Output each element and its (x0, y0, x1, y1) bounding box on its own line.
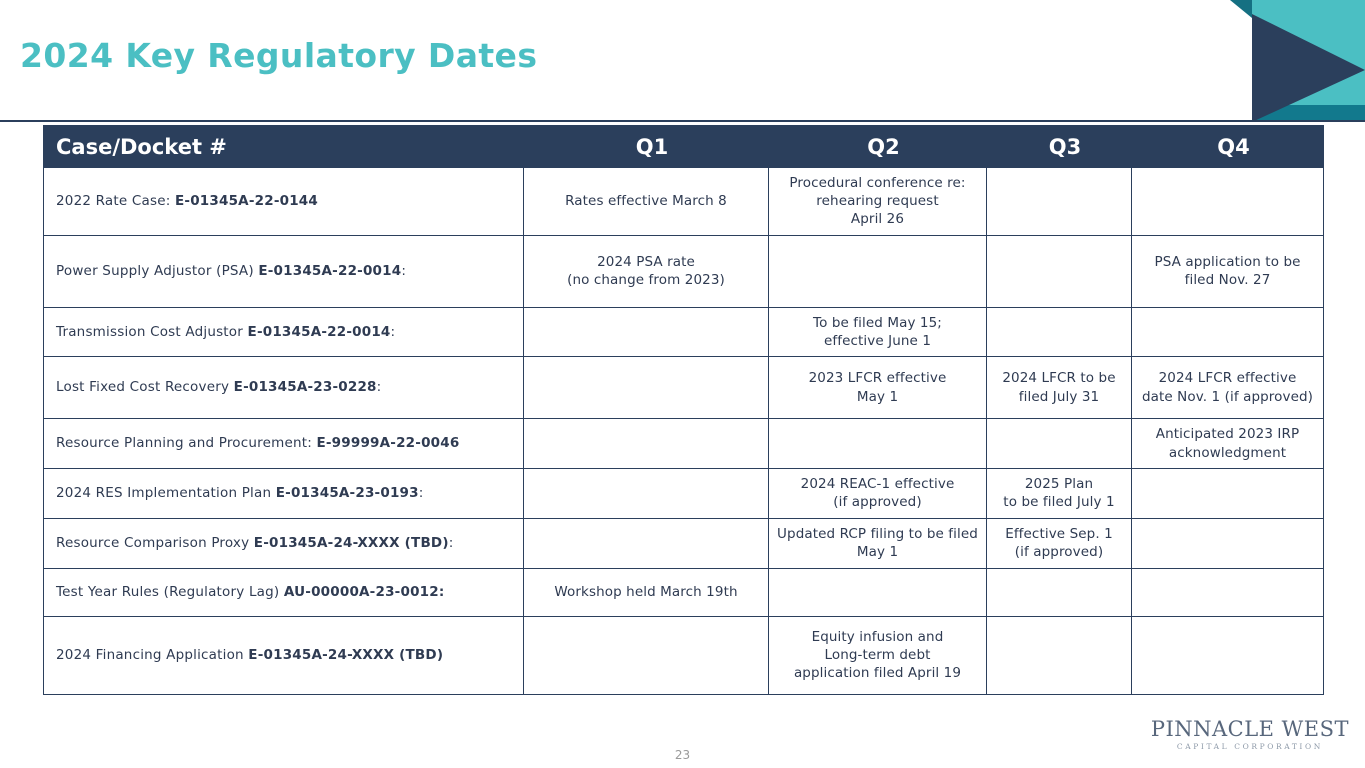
cell-q4: 2024 LFCR effectivedate Nov. 1 (if appro… (1132, 357, 1324, 419)
cell-q1 (524, 419, 769, 469)
case-name: 2024 RES Implementation Plan (56, 485, 276, 501)
cell-q1: 2024 PSA rate(no change from 2023) (524, 235, 769, 307)
logo-wordmark: PINNACLE WEST (1151, 719, 1349, 740)
cell-q4 (1132, 518, 1324, 568)
cell-q1: Workshop held March 19th (524, 568, 769, 616)
cell-q3 (987, 235, 1132, 307)
cell-q3: 2024 LFCR to befiled July 31 (987, 357, 1132, 419)
table-row: Test Year Rules (Regulatory Lag) AU-0000… (44, 568, 1324, 616)
cell-case-docket: 2024 RES Implementation Plan E-01345A-23… (44, 469, 524, 518)
cell-q4 (1132, 568, 1324, 616)
cell-case-docket: Resource Comparison Proxy E-01345A-24-XX… (44, 518, 524, 568)
table-row: 2022 Rate Case: E-01345A-22-0144Rates ef… (44, 168, 1324, 236)
cell-q1 (524, 518, 769, 568)
cell-q2 (769, 235, 987, 307)
slide-header: 2024 Key Regulatory Dates (0, 0, 1232, 122)
case-suffix: : (401, 263, 406, 279)
page-number: 23 (0, 748, 1365, 762)
docket-number: E-01345A-22-0014 (258, 263, 401, 279)
cell-q2: To be filed May 15;effective June 1 (769, 307, 987, 356)
cell-q1 (524, 616, 769, 694)
docket-number: E-01345A-24-XXXX (TBD) (248, 647, 443, 663)
cell-case-docket: Resource Planning and Procurement: E-999… (44, 419, 524, 469)
cell-q4 (1132, 616, 1324, 694)
cell-q4: PSA application to befiled Nov. 27 (1132, 235, 1324, 307)
corner-decoration (1230, 0, 1365, 122)
table-row: Resource Planning and Procurement: E-999… (44, 419, 1324, 469)
cell-q1 (524, 357, 769, 419)
cell-q3: Effective Sep. 1(if approved) (987, 518, 1132, 568)
cell-q2: 2023 LFCR effectiveMay 1 (769, 357, 987, 419)
cell-case-docket: Test Year Rules (Regulatory Lag) AU-0000… (44, 568, 524, 616)
table-row: 2024 Financing Application E-01345A-24-X… (44, 616, 1324, 694)
regulatory-dates-table-wrapper: Case/Docket # Q1 Q2 Q3 Q4 2022 Rate Case… (43, 125, 1323, 695)
case-suffix: : (449, 535, 454, 551)
page-title: 2024 Key Regulatory Dates (20, 36, 537, 75)
cell-q2: Procedural conference re:rehearing reque… (769, 168, 987, 236)
column-header-q4: Q4 (1132, 126, 1324, 168)
corner-decoration-icon (1230, 0, 1365, 122)
case-name: Test Year Rules (Regulatory Lag) (56, 584, 284, 600)
cell-case-docket: 2022 Rate Case: E-01345A-22-0144 (44, 168, 524, 236)
cell-q1 (524, 469, 769, 518)
case-suffix: : (419, 485, 424, 501)
cell-q1 (524, 307, 769, 356)
docket-number: AU-00000A-23-0012: (284, 584, 445, 600)
docket-number: E-01345A-22-0014 (248, 324, 391, 340)
column-header-q1: Q1 (524, 126, 769, 168)
case-suffix: : (391, 324, 396, 340)
header-divider (0, 120, 1365, 122)
case-name: Transmission Cost Adjustor (56, 324, 248, 340)
cell-q2: 2024 REAC-1 effective(if approved) (769, 469, 987, 518)
table-row: 2024 RES Implementation Plan E-01345A-23… (44, 469, 1324, 518)
case-name: 2024 Financing Application (56, 647, 248, 663)
table-row: Resource Comparison Proxy E-01345A-24-XX… (44, 518, 1324, 568)
cell-q3 (987, 568, 1132, 616)
table-row: Lost Fixed Cost Recovery E-01345A-23-022… (44, 357, 1324, 419)
cell-q4: Anticipated 2023 IRPacknowledgment (1132, 419, 1324, 469)
cell-q2 (769, 568, 987, 616)
table-body: 2022 Rate Case: E-01345A-22-0144Rates ef… (44, 168, 1324, 695)
case-name: Resource Planning and Procurement: (56, 435, 316, 451)
case-name: Lost Fixed Cost Recovery (56, 379, 234, 395)
cell-q4 (1132, 307, 1324, 356)
table-row: Transmission Cost Adjustor E-01345A-22-0… (44, 307, 1324, 356)
docket-number: E-01345A-22-0144 (175, 193, 318, 209)
cell-q2: Updated RCP filing to be filedMay 1 (769, 518, 987, 568)
cell-case-docket: 2024 Financing Application E-01345A-24-X… (44, 616, 524, 694)
cell-case-docket: Lost Fixed Cost Recovery E-01345A-23-022… (44, 357, 524, 419)
case-name: Resource Comparison Proxy (56, 535, 254, 551)
cell-q3 (987, 616, 1132, 694)
cell-q3: 2025 Planto be filed July 1 (987, 469, 1132, 518)
cell-q3 (987, 168, 1132, 236)
docket-number: E-01345A-23-0228 (234, 379, 377, 395)
case-name: Power Supply Adjustor (PSA) (56, 263, 258, 279)
column-header-case: Case/Docket # (44, 126, 524, 168)
cell-q4 (1132, 469, 1324, 518)
case-name: 2022 Rate Case: (56, 193, 175, 209)
docket-number: E-99999A-22-0046 (316, 435, 459, 451)
cell-q2: Equity infusion andLong-term debtapplica… (769, 616, 987, 694)
column-header-q2: Q2 (769, 126, 987, 168)
table-head: Case/Docket # Q1 Q2 Q3 Q4 (44, 126, 1324, 168)
column-header-q3: Q3 (987, 126, 1132, 168)
logo-tagline: CAPITAL CORPORATION (1151, 743, 1349, 751)
docket-number: E-01345A-24-XXXX (TBD) (254, 535, 449, 551)
table-row: Power Supply Adjustor (PSA) E-01345A-22-… (44, 235, 1324, 307)
cell-q3 (987, 307, 1132, 356)
case-suffix: : (377, 379, 382, 395)
cell-case-docket: Power Supply Adjustor (PSA) E-01345A-22-… (44, 235, 524, 307)
table-header-row: Case/Docket # Q1 Q2 Q3 Q4 (44, 126, 1324, 168)
docket-number: E-01345A-23-0193 (276, 485, 419, 501)
pinnacle-west-logo: PINNACLE WEST CAPITAL CORPORATION (1151, 719, 1349, 751)
cell-q4 (1132, 168, 1324, 236)
cell-case-docket: Transmission Cost Adjustor E-01345A-22-0… (44, 307, 524, 356)
regulatory-dates-table: Case/Docket # Q1 Q2 Q3 Q4 2022 Rate Case… (43, 125, 1324, 695)
cell-q2 (769, 419, 987, 469)
cell-q1: Rates effective March 8 (524, 168, 769, 236)
cell-q3 (987, 419, 1132, 469)
